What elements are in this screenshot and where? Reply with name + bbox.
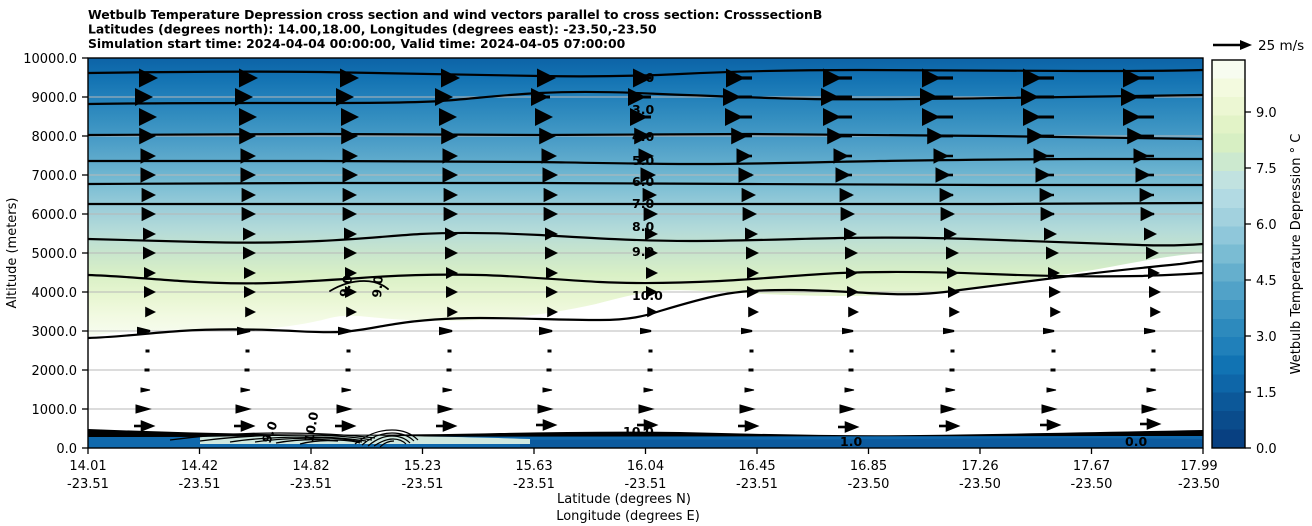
colorbar-tick-4: 6.0 — [1256, 218, 1277, 233]
contour-label-9: 9.0 — [632, 244, 654, 259]
x-ticks — [88, 448, 1203, 454]
contour-label-6: 6.0 — [632, 174, 654, 189]
x-tick-lat-3: 15.23 — [404, 459, 441, 474]
x-tick-lat-7: 16.85 — [850, 459, 887, 474]
y-tick-label-0: 0.0 — [56, 442, 77, 457]
x-tick-lon-9: -23.50 — [1071, 477, 1113, 492]
x-tick-lat-1: 14.42 — [181, 459, 218, 474]
title-line-3: Simulation start time: 2024-04-04 00:00:… — [88, 36, 626, 51]
y-ticks — [82, 58, 88, 448]
plot-area: 2.0 3.0 4.0 5.0 6.0 7.0 8.0 9.0 10.0 9.0… — [88, 58, 1203, 449]
y-axis: 0.0 1000.0 2000.0 3000.0 4000.0 5000.0 6… — [5, 52, 88, 457]
x-tick-lat-0: 14.01 — [69, 459, 106, 474]
y-tick-label-4: 4000.0 — [32, 286, 78, 301]
colorbar-tick-2: 3.0 — [1256, 330, 1277, 345]
x-tick-lon-3: -23.51 — [402, 477, 444, 492]
contour-label-7: 7.0 — [632, 196, 654, 211]
contour-label-0-surface: 0.0 — [1125, 434, 1147, 449]
colorbar-gradient — [1212, 60, 1245, 448]
x-tick-labels-lon: -23.51 -23.51 -23.51 -23.51 -23.51 -23.5… — [67, 477, 1220, 492]
y-tick-label-3: 3000.0 — [32, 325, 78, 340]
right-arrow-icon — [1213, 40, 1252, 50]
x-tick-lon-10: -23.50 — [1178, 477, 1220, 492]
x-tick-lat-6: 16.45 — [738, 459, 775, 474]
x-tick-lon-1: -23.51 — [179, 477, 221, 492]
colorbar: 0.0 1.5 3.0 4.5 6.0 7.5 9.0 Wetbulb Temp… — [1212, 60, 1304, 457]
x-tick-lon-8: -23.50 — [959, 477, 1001, 492]
contour-label-3: 3.0 — [632, 102, 654, 117]
contour-label-10-center: 10.0 — [623, 424, 654, 439]
colorbar-tick-5: 7.5 — [1256, 162, 1277, 177]
contour-label-10: 10.0 — [632, 288, 663, 303]
colorbar-tick-3: 4.5 — [1256, 274, 1277, 289]
x-tick-lon-5: -23.51 — [625, 477, 667, 492]
x-tick-labels-lat: 14.01 14.42 14.82 15.23 15.63 16.04 16.4… — [69, 459, 1217, 474]
colorbar-tick-6: 9.0 — [1256, 106, 1277, 121]
y-tick-label-7: 7000.0 — [32, 169, 78, 184]
x-tick-lat-2: 14.82 — [292, 459, 329, 474]
x-axis-label-longitude: Longitude (degrees E) — [556, 509, 700, 524]
x-tick-lon-0: -23.51 — [67, 477, 109, 492]
figure-container: Wetbulb Temperature Depression cross sec… — [0, 0, 1312, 526]
contour-label-8: 8.0 — [632, 219, 654, 234]
contour-label-4: 4.0 — [632, 129, 654, 144]
y-tick-label-6: 6000.0 — [32, 208, 78, 223]
x-tick-lat-8: 17.26 — [961, 459, 998, 474]
colorbar-ticks — [1245, 112, 1251, 448]
x-tick-lon-4: -23.51 — [513, 477, 555, 492]
contour-label-2: 2.0 — [632, 70, 654, 85]
x-tick-lon-7: -23.50 — [848, 477, 890, 492]
y-tick-label-10: 10000.0 — [23, 52, 77, 67]
contour-label-5: 5.0 — [632, 153, 654, 168]
title-line-1: Wetbulb Temperature Depression cross sec… — [88, 7, 822, 22]
title-line-2: Latitudes (degrees north): 14.00,18.00, … — [88, 22, 657, 37]
x-tick-lat-10: 17.99 — [1180, 459, 1217, 474]
colorbar-tick-labels: 0.0 1.5 3.0 4.5 6.0 7.5 9.0 — [1256, 106, 1277, 457]
y-tick-labels: 0.0 1000.0 2000.0 3000.0 4000.0 5000.0 6… — [23, 52, 77, 457]
wind-key-label: 25 m/s — [1258, 38, 1304, 54]
x-tick-lat-5: 16.04 — [627, 459, 664, 474]
wind-vector-key: 25 m/s — [1213, 38, 1304, 54]
colorbar-tick-0: 0.0 — [1256, 442, 1277, 457]
contour-label-1-surface: 1.0 — [840, 434, 862, 449]
x-tick-lat-4: 15.63 — [515, 459, 552, 474]
y-tick-label-5: 5000.0 — [32, 247, 78, 262]
y-tick-label-2: 2000.0 — [32, 364, 78, 379]
y-tick-label-1: 1000.0 — [32, 403, 78, 418]
y-tick-label-9: 9000.0 — [32, 91, 78, 106]
figure-title: Wetbulb Temperature Depression cross sec… — [88, 7, 822, 51]
x-axis: 14.01 14.42 14.82 15.23 15.63 16.04 16.4… — [67, 448, 1220, 524]
cross-section-figure: Wetbulb Temperature Depression cross sec… — [0, 0, 1312, 526]
x-tick-lon-2: -23.51 — [290, 477, 332, 492]
y-tick-label-8: 8000.0 — [32, 130, 78, 145]
colorbar-tick-1: 1.5 — [1256, 386, 1277, 401]
x-tick-lon-6: -23.51 — [736, 477, 778, 492]
y-axis-label: Altitude (meters) — [5, 198, 20, 309]
colorbar-label: Wetbulb Temperature Depression ° C — [1289, 134, 1304, 375]
x-axis-label-latitude: Latitude (degrees N) — [557, 492, 691, 507]
x-tick-lat-9: 17.67 — [1073, 459, 1110, 474]
contour-label-9-rot-b: 9.0 — [369, 275, 386, 299]
